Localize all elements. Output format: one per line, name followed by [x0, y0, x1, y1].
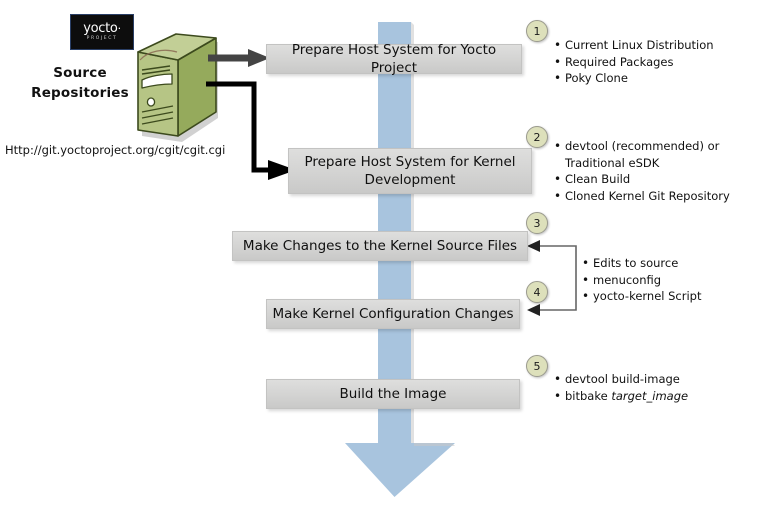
step-box-1[interactable]: Prepare Host System for Yocto Project — [266, 44, 522, 74]
step-box-1-label: Prepare Host System for Yocto Project — [267, 41, 521, 77]
step-2-bullet-list: devtool (recommended) or Traditional eSD… — [552, 138, 742, 204]
connector-loop-step3-step4 — [524, 238, 586, 318]
step-number-5: 5 — [526, 355, 548, 377]
list-item: devtool build-image — [565, 371, 742, 388]
list-item: devtool (recommended) or Traditional eSD… — [565, 138, 742, 171]
step-box-2-label: Prepare Host System for Kernel Developme… — [289, 153, 531, 189]
list-item: Clean Build — [565, 171, 742, 188]
source-repositories-label: Source Repositories — [20, 63, 140, 103]
step-1-bullet-list: Current Linux Distribution Required Pack… — [552, 37, 752, 87]
connector-server-to-step1 — [208, 46, 272, 70]
list-item: Poky Clone — [565, 70, 752, 87]
connector-server-to-step2 — [204, 78, 300, 184]
step-number-3-text: 3 — [534, 217, 541, 230]
step-box-2[interactable]: Prepare Host System for Kernel Developme… — [288, 148, 532, 194]
step-box-4[interactable]: Make Kernel Configuration Changes — [266, 299, 520, 329]
step-box-3[interactable]: Make Changes to the Kernel Source Files — [232, 231, 528, 261]
list-item: Required Packages — [565, 54, 752, 71]
list-item: menuconfig — [593, 272, 740, 289]
step-box-4-label: Make Kernel Configuration Changes — [272, 305, 513, 323]
logo-word-text: yocto — [83, 21, 117, 36]
step-box-5[interactable]: Build the Image — [266, 379, 520, 409]
step-number-4-text: 4 — [534, 286, 541, 299]
list-item: Cloned Kernel Git Repository — [565, 188, 742, 205]
source-repository-url: Http://git.yoctoproject.org/cgit/cgit.cg… — [5, 143, 225, 157]
step-3-4-bullet-list: Edits to source menuconfig yocto-kernel … — [580, 255, 740, 305]
list-item: Current Linux Distribution — [565, 37, 752, 54]
source-label-line1: Source — [20, 63, 140, 83]
step-number-1: 1 — [526, 20, 548, 42]
list-item: Edits to source — [593, 255, 740, 272]
logo-dot: · — [118, 22, 121, 35]
step-number-3: 3 — [526, 212, 548, 234]
bitbake-target-image-arg: target_image — [611, 389, 688, 403]
bitbake-command-prefix: bitbake — [565, 389, 611, 403]
yocto-project-logo: yocto· PROJECT — [70, 14, 134, 50]
list-item: bitbake target_image — [565, 388, 742, 405]
step-number-2: 2 — [526, 126, 548, 148]
step-box-3-label: Make Changes to the Kernel Source Files — [243, 237, 517, 255]
step-box-5-label: Build the Image — [340, 385, 447, 403]
step-5-bullet-list: devtool build-image bitbake target_image — [552, 371, 742, 404]
list-item: yocto-kernel Script — [593, 288, 740, 305]
step-number-5-text: 5 — [534, 360, 541, 373]
diagram-canvas: yocto· PROJECT Source Repositories Http:… — [0, 0, 769, 517]
source-label-line2: Repositories — [20, 83, 140, 103]
step-number-2-text: 2 — [534, 131, 541, 144]
step-number-1-text: 1 — [534, 25, 541, 38]
step-number-4: 4 — [526, 281, 548, 303]
logo-subtitle: PROJECT — [87, 36, 118, 42]
logo-wordmark: yocto· — [83, 22, 121, 35]
